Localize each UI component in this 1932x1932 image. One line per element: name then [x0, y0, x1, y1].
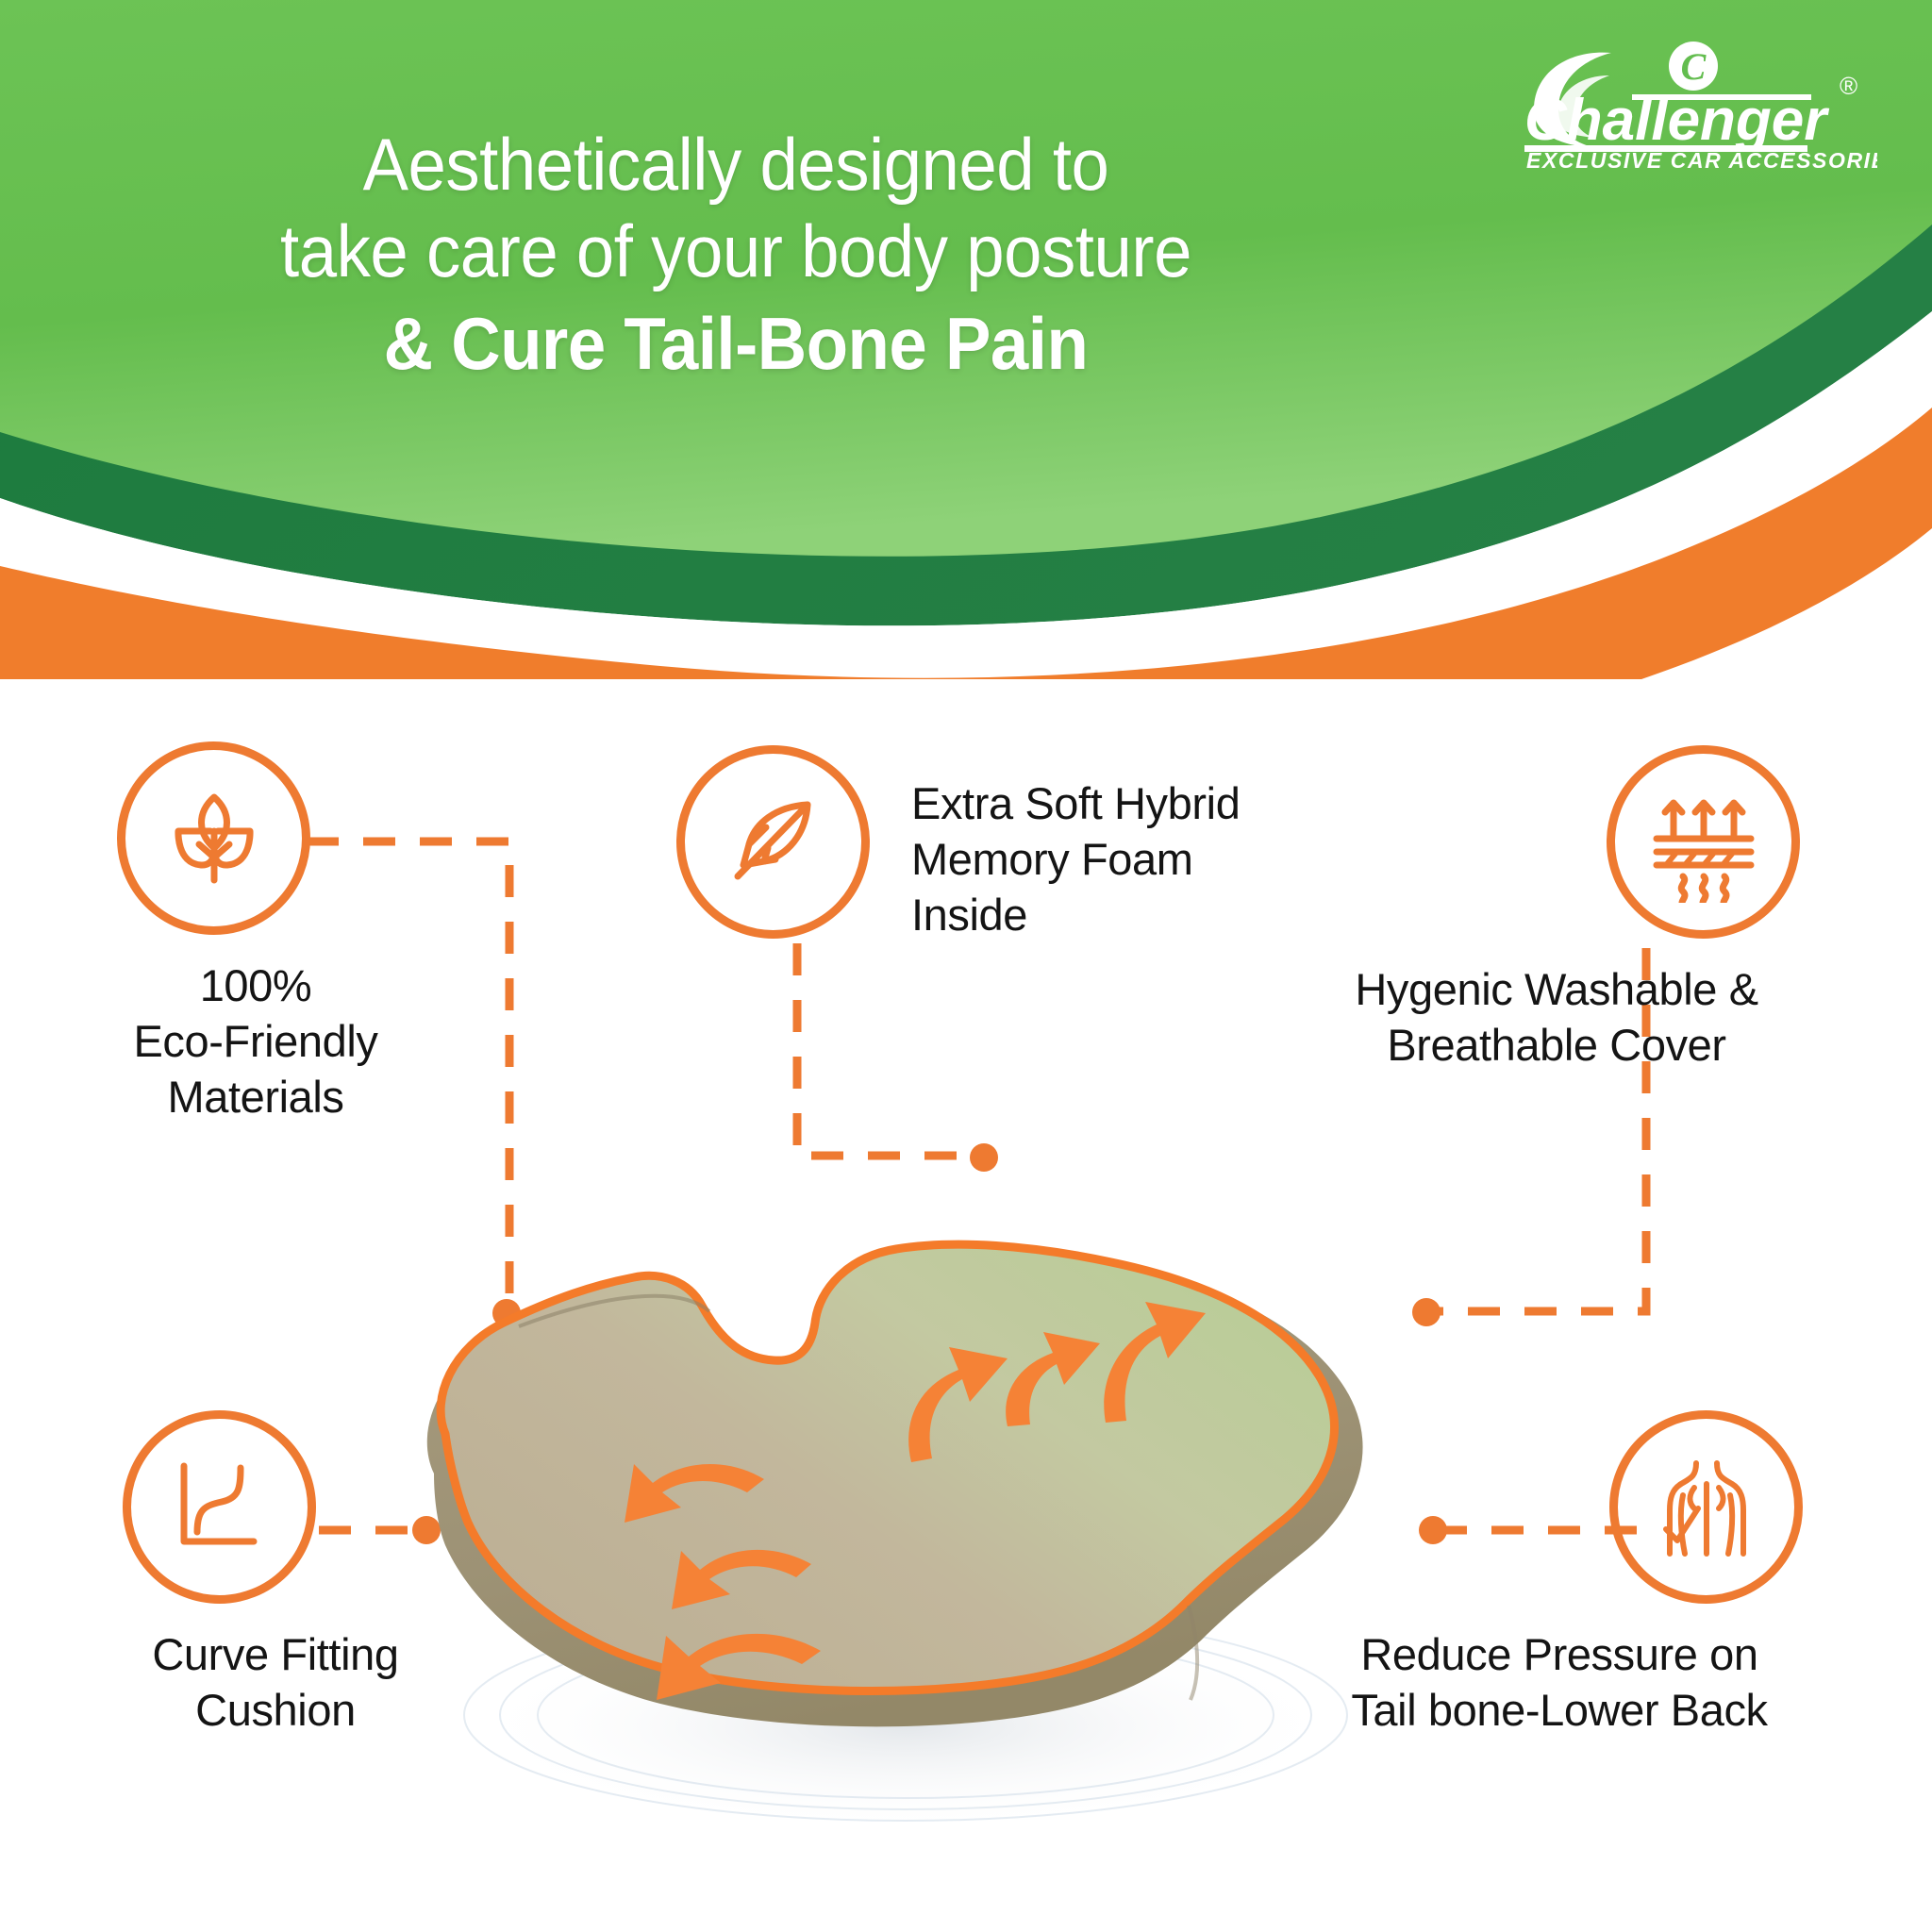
feature-reduce-pressure-label: Reduce Pressure on Tail bone-Lower Back: [1210, 1626, 1908, 1738]
feature-curve-fitting[interactable]: Curve Fitting Cushion: [106, 1410, 417, 1738]
infographic-canvas: Aesthetically designed to take care of y…: [0, 0, 1932, 1932]
feature-memory-foam-label: Extra Soft Hybrid Memory Foam Inside: [911, 775, 1240, 942]
leaf-icon: [117, 741, 310, 935]
leaf-icon-glyph: [158, 782, 271, 895]
breathable-fabric-icon: [1607, 745, 1800, 939]
feature-breathable-cover[interactable]: Hygenic Washable & Breathable Cover: [1547, 745, 1906, 1073]
feature-breathable-cover-label: Hygenic Washable & Breathable Cover: [1207, 961, 1906, 1073]
human-back-icon-glyph: [1649, 1450, 1764, 1565]
feature-eco-friendly-label: 100% Eco-Friendly Materials: [100, 958, 411, 1124]
human-back-icon: [1609, 1410, 1803, 1604]
feature-eco-friendly[interactable]: 100% Eco-Friendly Materials: [100, 741, 411, 1124]
curve-seat-icon-glyph: [163, 1451, 276, 1564]
feature-memory-foam[interactable]: Extra Soft Hybrid Memory Foam Inside: [676, 745, 1337, 942]
breathable-fabric-icon-glyph: [1643, 782, 1764, 903]
feather-icon: [676, 745, 870, 939]
feather-icon-glyph: [717, 786, 830, 899]
feature-curve-fitting-label: Curve Fitting Cushion: [87, 1626, 464, 1738]
curve-seat-icon: [123, 1410, 316, 1604]
feature-reduce-pressure[interactable]: Reduce Pressure on Tail bone-Lower Back: [1550, 1410, 1908, 1738]
